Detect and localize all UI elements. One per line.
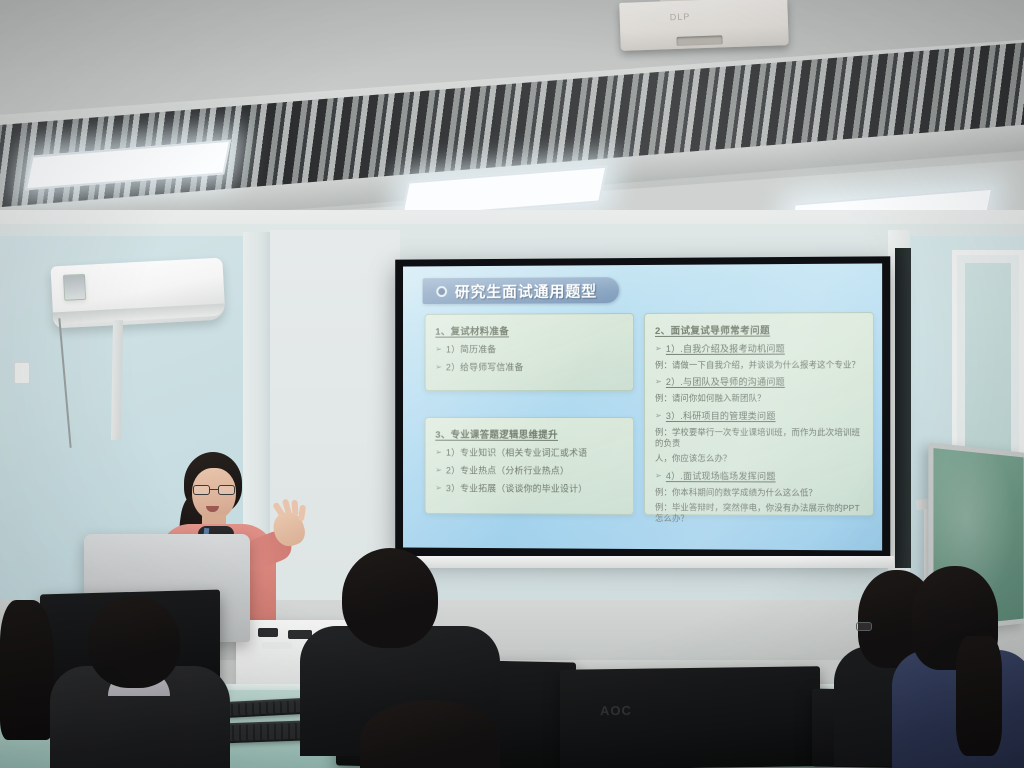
air-conditioner-unit	[50, 258, 225, 329]
student-hair	[956, 636, 1002, 756]
student-head	[360, 700, 500, 768]
slide-title: 研究生面试通用题型	[455, 280, 597, 302]
student-right-navy-top	[898, 566, 1024, 768]
slide-panel-left-bottom: 3、专业课答题逻辑思维提升 ➢ 1）专业知识（相关专业词汇或术语 ➢ 2）专业热…	[425, 417, 634, 515]
glasses-icon	[193, 485, 235, 495]
wall-switch[interactable]	[14, 362, 30, 384]
panel-item: ➢ 1）.自我介绍及报考动机问题	[655, 341, 863, 355]
panel-example: 例：请做一下自我介绍，并谈谈为什么报考这个专业？	[655, 360, 863, 372]
panel-heading: 2、面试复试导师常考问题	[655, 322, 863, 337]
panel-item-label: 3）专业拓展（谈谈你的毕业设计）	[446, 481, 587, 494]
arrow-bullet-icon: ➢	[655, 377, 662, 386]
panel-item-label: 1）简历准备	[446, 342, 496, 355]
arrow-bullet-icon: ➢	[655, 344, 662, 353]
glasses-icon	[856, 622, 872, 631]
panel-item-label: 4）.面试现场临场发挥问题	[666, 469, 776, 482]
ceiling-projector: DLP	[619, 0, 789, 51]
slide-panel-left-top: 1、复试材料准备 ➢ 1）简历准备 ➢ 2）给导师写信准备	[425, 313, 634, 391]
projector-brand-label: DLP	[670, 11, 691, 22]
student-head	[88, 596, 180, 688]
arrow-bullet-icon: ➢	[655, 471, 662, 480]
panel-example: 例：你本科期间的数学成绩为什么这么低？	[655, 487, 863, 499]
arrow-bullet-icon: ➢	[435, 345, 442, 354]
monitor-center-right: AOC	[560, 666, 820, 768]
panel-example: 例：请问你如何融入新团队？	[655, 393, 863, 404]
panel-item: ➢ 1）简历准备	[435, 342, 623, 355]
panel-item: ➢ 4）.面试现场临场发挥问题	[655, 469, 863, 483]
glasses-bridge	[210, 489, 218, 490]
arrow-bullet-icon: ➢	[655, 411, 662, 420]
paper-sheet	[262, 642, 292, 649]
glasses-lens-right	[218, 485, 235, 495]
panel-item-label: 2）给导师写信准备	[446, 360, 524, 373]
panel-heading: 3、专业课答题逻辑思维提升	[435, 427, 623, 441]
panel-example: 人，你应该怎么办？	[655, 453, 863, 465]
panel-item-label: 3）.科研项目的管理类问题	[666, 409, 776, 422]
panel-heading: 1、复试材料准备	[435, 323, 623, 338]
circle-bullet-icon	[436, 286, 447, 297]
panel-item: ➢ 2）专业热点（分析行业热点）	[435, 463, 623, 476]
student-bottom-foreground	[360, 700, 500, 768]
panel-item-label: 1）专业知识（相关专业词汇或术语	[446, 446, 587, 459]
panel-item: ➢ 2）给导师写信准备	[435, 360, 623, 373]
panel-item: ➢ 3）.科研项目的管理类问题	[655, 409, 863, 422]
instructor-finger	[291, 500, 298, 516]
slide-surface: 研究生面试通用题型 1、复试材料准备 ➢ 1）简历准备 ➢ 2）给导师写信准备 …	[403, 263, 882, 550]
panel-item-label: 2）专业热点（分析行业热点）	[446, 464, 569, 477]
apple-logo-icon	[134, 558, 156, 584]
panel-item-label: 1）.自我介绍及报考动机问题	[666, 342, 785, 355]
projection-screen: 研究生面试通用题型 1、复试材料准备 ➢ 1）简历准备 ➢ 2）给导师写信准备 …	[395, 256, 890, 559]
glasses-lens-left	[193, 485, 210, 495]
panel-example: 例：学校要举行一次专业课培训班，而作为此次培训班的负责	[655, 427, 863, 450]
student-head	[342, 548, 438, 648]
panel-item: ➢ 1）专业知识（相关专业词汇或术语	[435, 446, 623, 459]
projector-lens-icon	[676, 35, 722, 46]
arrow-bullet-icon: ➢	[435, 465, 442, 474]
panel-item: ➢ 2）.与团队及导师的沟通问题	[655, 375, 863, 388]
ac-pipe	[111, 320, 123, 440]
monitor-brand-label: AOC	[600, 703, 632, 718]
panel-item-label: 2）.与团队及导师的沟通问题	[666, 375, 785, 388]
remote-control[interactable]	[258, 628, 278, 637]
student-front-center-hoodie	[56, 596, 236, 768]
slide-title-bar: 研究生面试通用题型	[423, 277, 619, 304]
student-hair	[0, 600, 54, 740]
arrow-bullet-icon: ➢	[435, 448, 442, 457]
window-frame-dark	[895, 248, 911, 568]
ac-display-panel	[63, 274, 86, 301]
slide-panel-right: 2、面试复试导师常考问题 ➢ 1）.自我介绍及报考动机问题 例：请做一下自我介绍…	[644, 312, 874, 516]
arrow-bullet-icon: ➢	[435, 483, 442, 492]
panel-example: 例：毕业答辩时，突然停电，你没有办法展示你的PPT怎么办？	[655, 502, 863, 526]
classroom-photo: DLP 研究生面试通用题型 1、复试材料准备 ➢ 1	[0, 0, 1024, 768]
arrow-bullet-icon: ➢	[435, 362, 442, 371]
panel-item: ➢ 3）专业拓展（谈谈你的毕业设计）	[435, 481, 623, 495]
